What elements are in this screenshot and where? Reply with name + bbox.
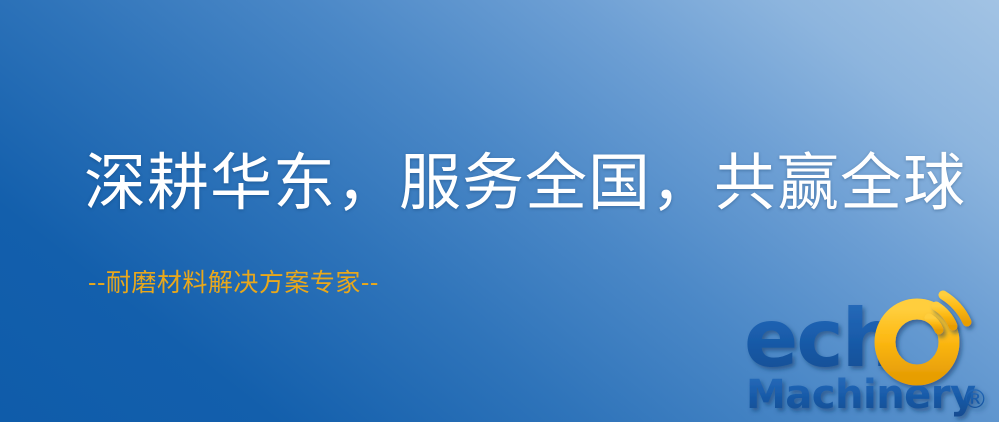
hero-banner: 深耕华东，服务全国，共赢全球 --耐磨材料解决方案专家-- [0, 0, 999, 422]
page-subtitle: --耐磨材料解决方案专家-- [88, 268, 379, 298]
page-title: 深耕华东，服务全国，共赢全球 [84, 150, 966, 215]
registered-trademark-icon: ® [962, 385, 988, 415]
logo-tagline-text: Machinery [746, 372, 976, 418]
echo-machinery-logo[interactable]: ech Machinery ® [740, 288, 999, 422]
logo-wordmark-accent-o [885, 309, 949, 375]
logo-tagline: Machinery ® [746, 372, 988, 418]
